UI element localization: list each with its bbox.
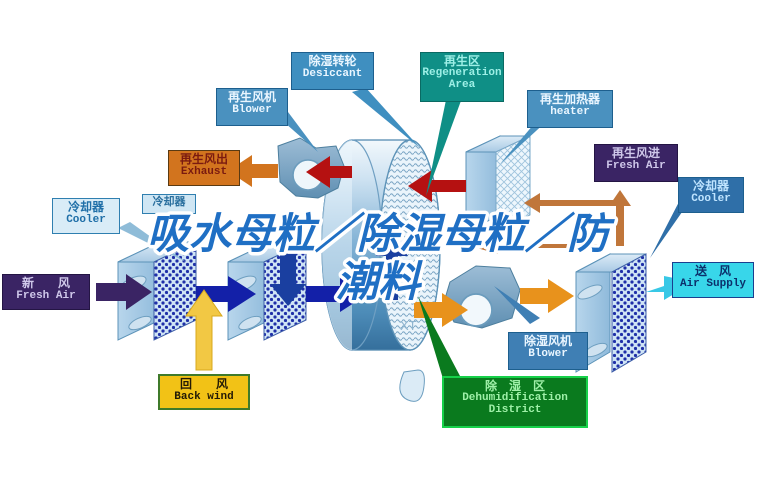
label-exhaust[interactable]: 再生风出 Exhaust	[168, 150, 240, 186]
label-cooler-left-2[interactable]: 冷却器	[142, 194, 196, 214]
label-cooler-right[interactable]: 冷却器 Cooler	[678, 177, 744, 213]
label-desiccant[interactable]: 除湿转轮 Desiccant	[291, 52, 374, 90]
label-dehum-blower[interactable]: 除湿风机 Blower	[508, 332, 588, 370]
label-regen-heater-cn: 再生加热器	[528, 93, 612, 106]
flow-regen-riser-arrow	[609, 190, 631, 246]
flow-dehum-blower-arrow	[520, 279, 574, 313]
label-back-wind-en: Back wind	[160, 391, 248, 403]
flow-regen-bottom-arrow	[470, 238, 600, 254]
label-back-wind[interactable]: 回 风 Back wind	[158, 374, 250, 410]
label-desiccant-en: Desiccant	[292, 68, 373, 80]
label-regen-blower[interactable]: 再生风机 Blower	[216, 88, 288, 126]
label-regen-fresh-air-cn: 再生风进	[595, 147, 677, 160]
label-exhaust-en: Exhaust	[169, 166, 239, 178]
label-cooler-right-en: Cooler	[679, 193, 743, 205]
label-dehum-district-cn: 除 湿 区	[444, 380, 586, 393]
label-air-supply-en: Air Supply	[673, 278, 753, 290]
label-regen-fresh-air-en: Fresh Air	[595, 160, 677, 172]
regeneration-heater-unit	[466, 136, 530, 232]
svg-text:XT: XT	[400, 318, 417, 333]
label-regen-fresh-air[interactable]: 再生风进 Fresh Air	[594, 144, 678, 182]
label-exhaust-cn: 再生风出	[169, 153, 239, 166]
flow-regen-in-arrow	[524, 193, 620, 213]
label-regen-area-en: Regeneration Area	[421, 68, 503, 91]
label-cooler-left[interactable]: 冷却器 Cooler	[52, 198, 120, 234]
label-cooler-left-2-cn: 冷却器	[143, 196, 195, 208]
label-air-supply-cn: 送 风	[673, 265, 753, 278]
label-dehum-district-en: Dehumidification District	[444, 393, 586, 416]
label-regen-heater-en: heater	[528, 106, 612, 118]
dehumidifier-diagram: XT	[0, 0, 757, 488]
label-regen-area-cn: 再生区	[421, 55, 503, 68]
label-regen-heater[interactable]: 再生加热器 heater	[527, 90, 613, 128]
label-back-wind-cn: 回 风	[160, 378, 248, 391]
label-dehum-blower-en: Blower	[509, 348, 587, 360]
label-fresh-air-in[interactable]: 新 风 Fresh Air	[2, 274, 90, 310]
label-fresh-air-in-en: Fresh Air	[3, 290, 89, 302]
label-air-supply[interactable]: 送 风 Air Supply	[672, 262, 754, 298]
label-cooler-left-en: Cooler	[53, 214, 119, 226]
label-regen-area[interactable]: 再生区 Regeneration Area	[420, 52, 504, 102]
label-cooler-left-cn: 冷却器	[53, 201, 119, 214]
diagram-canvas: XT	[0, 0, 757, 488]
label-fresh-air-in-cn: 新 风	[3, 277, 89, 290]
label-desiccant-cn: 除湿转轮	[292, 55, 373, 68]
label-regen-blower-cn: 再生风机	[217, 91, 287, 104]
label-dehum-blower-cn: 除湿风机	[509, 335, 587, 348]
label-cooler-right-cn: 冷却器	[679, 180, 743, 193]
label-regen-blower-en: Blower	[217, 104, 287, 116]
label-dehum-district[interactable]: 除 湿 区 Dehumidification District	[442, 376, 588, 428]
